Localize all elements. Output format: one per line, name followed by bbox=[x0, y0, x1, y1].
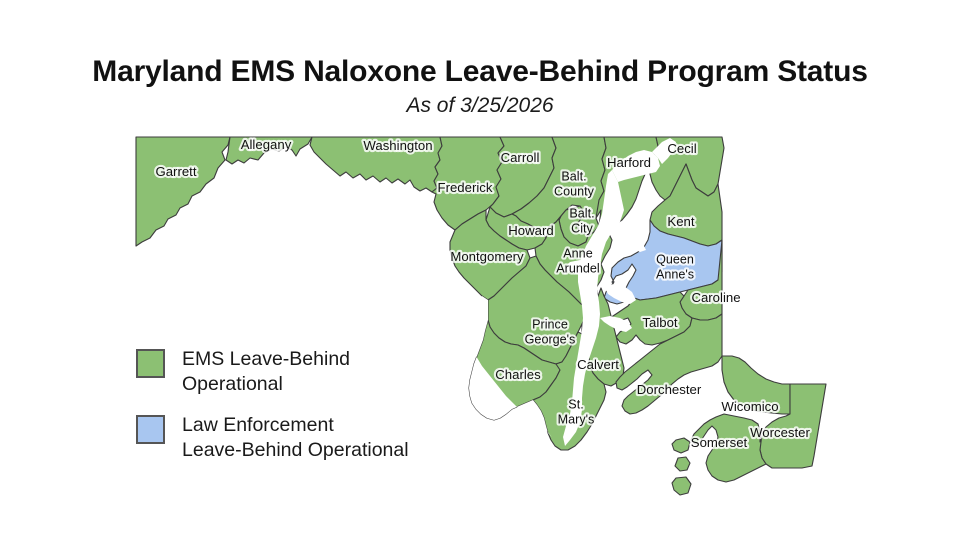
county-label-allegany: Allegany bbox=[241, 137, 292, 152]
county-label-worcester: Worcester bbox=[750, 425, 810, 440]
county-label-caroline: Caroline bbox=[691, 290, 740, 305]
county-label-charles: Charles bbox=[495, 367, 541, 382]
county-label-frederick: Frederick bbox=[438, 180, 493, 195]
county-label-kent: Kent bbox=[667, 214, 694, 229]
county-label-baltimore-city: Balt.City bbox=[569, 207, 594, 236]
county-label-cecil: Cecil bbox=[667, 141, 696, 156]
county-label-montgomery: Montgomery bbox=[450, 249, 524, 264]
county-garrett[interactable] bbox=[136, 137, 230, 246]
legend-swatch-law-enforcement bbox=[136, 415, 165, 444]
legend-label-law-enforcement: Law Enforcement Leave-Behind Operational bbox=[182, 413, 409, 463]
legend-item-law-enforcement: Law Enforcement Leave-Behind Operational bbox=[136, 413, 496, 463]
county-label-somerset: Somerset bbox=[691, 435, 748, 450]
county-label-harford: Harford bbox=[607, 155, 651, 170]
island-smith bbox=[672, 438, 690, 453]
island-south-marsh bbox=[675, 457, 690, 471]
county-label-garrett: Garrett bbox=[155, 164, 196, 179]
legend-item-ems: EMS Leave-Behind Operational bbox=[136, 347, 496, 397]
legend-swatch-ems bbox=[136, 349, 165, 378]
county-label-howard: Howard bbox=[508, 223, 553, 238]
county-label-dorchester: Dorchester bbox=[637, 382, 702, 397]
chester-river-water bbox=[608, 226, 646, 252]
county-label-talbot: Talbot bbox=[642, 315, 678, 330]
county-label-queen-anne-s: QueenAnne's bbox=[656, 253, 694, 282]
county-label-washington: Washington bbox=[363, 138, 432, 153]
county-label-carroll: Carroll bbox=[501, 150, 540, 165]
tangier-sound-water bbox=[659, 400, 676, 430]
legend-label-ems: EMS Leave-Behind Operational bbox=[182, 347, 350, 397]
island-bloodsworth bbox=[672, 477, 691, 495]
county-label-prince-george-s: PrinceGeorge's bbox=[525, 318, 576, 347]
county-label-wicomico: Wicomico bbox=[721, 399, 778, 414]
county-label-calvert: Calvert bbox=[577, 357, 619, 372]
map-legend: EMS Leave-Behind Operational Law Enforce… bbox=[136, 347, 496, 479]
